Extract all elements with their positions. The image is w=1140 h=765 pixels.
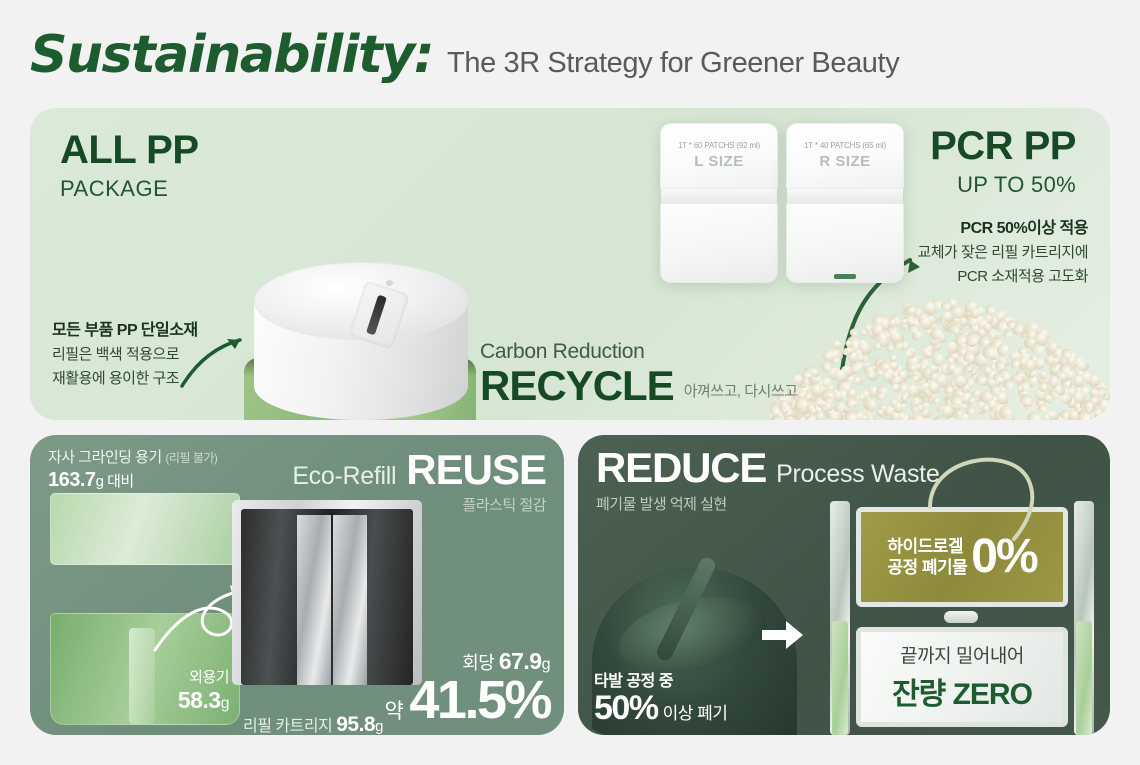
residue-zero-board: 끝까지 밀어내어 잔량 ZERO (856, 627, 1068, 727)
reuse-percent-value: 41.5% (409, 673, 550, 727)
recycle-korean-caption: 아껴쓰고, 다시쓰고 (684, 380, 798, 401)
grinding-container-note: 자사 그라인딩 용기 (리필 불가) 163.7g 대비 (48, 446, 217, 492)
pellet (872, 342, 881, 351)
pcr-pp-title: PCR PP (930, 126, 1076, 166)
pellet (904, 350, 915, 359)
infographic-canvas: Sustainability: The 3R Strategy for Gree… (0, 0, 1140, 765)
right-arrow-icon (760, 617, 806, 651)
page-header: Sustainability: The 3R Strategy for Gree… (30, 25, 899, 85)
pellet (859, 329, 867, 337)
gel-waste-stat: 타발 공정 중 50% 이상 폐기 (594, 667, 727, 725)
cartridge-label: 리필 카트리지 (243, 718, 332, 735)
all-pp-note: 모든 부품 PP 단일소재 리필은 백색 적용으로 재활용에 용이한 구조 (52, 316, 198, 388)
page-title: Sustainability: (30, 25, 433, 85)
hydrogel-zero-board: 하이드로겔 공정 폐기물 0% (856, 507, 1068, 607)
pellet (1062, 349, 1072, 357)
machine-green-post-right (1076, 621, 1092, 735)
container-inner-stick (129, 628, 155, 724)
cartridge-column-left (297, 515, 331, 685)
pcr-pp-note-line1: 교체가 잦은 리필 카트리지에 (917, 241, 1088, 262)
pcr-pp-note: PCR 50%이상 적용 교체가 잦은 리필 카트리지에 PCR 소재적용 고도… (917, 214, 1088, 286)
jar-lid-dot (386, 280, 393, 286)
all-pp-note-line1: 리필은 백색 적용으로 (52, 343, 198, 364)
pcr-pellet-pile (770, 284, 1110, 420)
carbon-reduction-label: Carbon Reduction (480, 340, 674, 363)
patch-spec-l: 1T * 60 PATCHS (92 ml) (660, 141, 778, 150)
pcr-pp-block: PCR PP UP TO 50% (930, 126, 1076, 198)
approx-label: 약 (385, 695, 404, 725)
cartridge-stat: 리필 카트리지 95.8g (243, 712, 383, 737)
cartridge-unit: g (375, 718, 383, 735)
outer-container-unit: g (221, 695, 229, 712)
recycle-panel: ALL PP PACKAGE PCR PP UP TO 50% SAMHWA 1… (30, 108, 1110, 420)
process-waste-label: Process Waste (776, 460, 939, 489)
pellet (866, 399, 877, 412)
hydrogel-line2: 공정 폐기물 (887, 557, 967, 578)
reuse-savings-stats: 회당 67.9g 약 41.5% (420, 648, 550, 751)
machine-green-post-left (832, 621, 848, 735)
pellet (898, 370, 909, 380)
cartridge-value: 95.8 (336, 713, 375, 736)
recycle-heading: Carbon Reduction RECYCLE 아껴쓰고, 다시쓰고 (480, 340, 797, 407)
grinding-container-value: 163.7 (48, 469, 96, 491)
gel-waste-tail: 이상 폐기 (663, 699, 728, 724)
cartridge-column-right (333, 515, 367, 685)
patch-cartridge-group: 1T * 60 PATCHS (92 ml) L SIZE 1T * 40 PA… (660, 123, 910, 288)
reduce-word: REDUCE (596, 447, 766, 489)
all-pp-subtitle: PACKAGE (60, 176, 199, 202)
hydrogel-zero-value: 0% (971, 533, 1036, 581)
dispenser-machine-illustration: 하이드로겔 공정 폐기물 0% 끝까지 밀어내어 잔량 ZERO (826, 501, 1098, 735)
all-pp-note-line2: 재활용에 용이한 구조 (52, 367, 198, 388)
outer-container-graphic: 외용기 58.3g (50, 613, 240, 725)
outer-container-label: 외용기 (178, 666, 229, 687)
grinding-container-paren: (리필 불가) (165, 451, 217, 465)
gel-waste-line1: 타발 공정 중 (594, 667, 727, 691)
patch-spec-r: 1T * 40 PATCHS (65 ml) (786, 141, 904, 150)
patch-green-tab (834, 274, 856, 279)
cartridge-frame (232, 500, 422, 685)
zero-box-line2: 잔량 ZERO (892, 669, 1032, 713)
patch-base (786, 203, 904, 283)
patch-cartridge-l: 1T * 60 PATCHS (92 ml) L SIZE (660, 123, 778, 283)
grinding-container-unit: g 대비 (96, 473, 134, 490)
grinding-container-label: 자사 그라인딩 용기 (48, 449, 162, 466)
pellet (1039, 382, 1048, 392)
pellet (900, 393, 908, 402)
recycle-word: RECYCLE (480, 365, 674, 407)
patch-cartridge-r: 1T * 40 PATCHS (65 ml) R SIZE (786, 123, 904, 283)
pellet (982, 404, 990, 413)
all-pp-block: ALL PP PACKAGE (60, 130, 199, 202)
patch-size-l: L SIZE (660, 153, 778, 170)
jar-illustration: SAMHWA (226, 248, 496, 420)
pellet (974, 389, 983, 397)
hydrogel-line1: 하이드로겔 (887, 536, 967, 557)
reduce-panel: REDUCE Process Waste 폐기물 발생 억제 실현 타발 공정 … (578, 435, 1110, 735)
outer-container-stat: 외용기 58.3g (178, 666, 229, 714)
refill-cartridge-cross-section (232, 500, 422, 685)
page-subtitle: The 3R Strategy for Greener Beauty (447, 47, 899, 80)
pcr-pp-note-line2: PCR 소재적용 고도화 (917, 265, 1088, 286)
pellet (858, 393, 867, 401)
pellet (830, 411, 843, 420)
patch-seam (787, 189, 903, 203)
gel-waste-value: 50% (594, 691, 658, 725)
zero-box-line1: 끝까지 밀어내어 (900, 641, 1024, 668)
reuse-word: REUSE (406, 449, 546, 491)
all-pp-note-highlight: 모든 부품 PP 단일소재 (52, 316, 198, 340)
eco-refill-label: Eco-Refill (292, 462, 396, 491)
outer-container-value: 58.3 (178, 687, 221, 713)
container-lid-graphic (50, 493, 240, 565)
all-pp-title: ALL PP (60, 130, 199, 170)
patch-seam (661, 189, 777, 203)
pcr-pp-note-highlight: PCR 50%이상 적용 (917, 214, 1088, 238)
patch-base (660, 203, 778, 283)
patch-size-r: R SIZE (786, 153, 904, 170)
pellet (983, 303, 996, 316)
pellet (1048, 410, 1059, 420)
pcr-pp-subtitle: UP TO 50% (930, 172, 1076, 198)
pellet (854, 377, 864, 386)
machine-hinge (944, 611, 978, 623)
cartridge-interior (241, 509, 413, 685)
